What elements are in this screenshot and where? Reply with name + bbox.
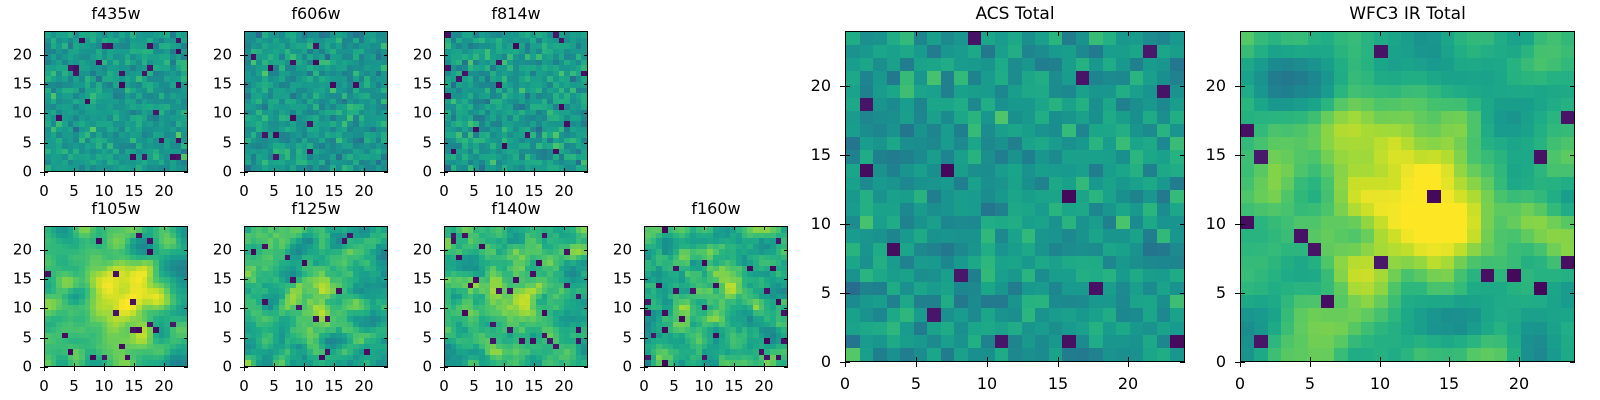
xtick-label-wfc3-ir-total-20: 20 [1509, 376, 1529, 392]
ytick-right-wfc3-ir-total-5 [1570, 293, 1575, 294]
xtick-inner-wfc3-ir-total-5 [1310, 357, 1311, 362]
ytick-inner-wfc3-ir-total-10 [1240, 224, 1245, 225]
xtick-wfc3-ir-total-15 [1449, 362, 1450, 367]
heatmap-wfc3-ir-total [1240, 31, 1575, 362]
xtick-top-wfc3-ir-total-20 [1519, 31, 1520, 36]
heatmap-cells-wfc3-ir-total [1241, 32, 1574, 361]
xtick-inner-wfc3-ir-total-15 [1449, 357, 1450, 362]
ytick-label-wfc3-ir-total-20: 20 [0, 78, 1226, 94]
ytick-right-wfc3-ir-total-0 [1570, 362, 1575, 363]
panel-wfc3-ir-total: WFC3 IR Total0510152005101520 [0, 0, 1600, 400]
xtick-inner-wfc3-ir-total-10 [1380, 357, 1381, 362]
xtick-label-wfc3-ir-total-10: 10 [1370, 376, 1390, 392]
ytick-right-wfc3-ir-total-20 [1570, 86, 1575, 87]
xtick-top-wfc3-ir-total-0 [1240, 31, 1241, 36]
xtick-top-wfc3-ir-total-5 [1310, 31, 1311, 36]
ytick-label-wfc3-ir-total-0: 0 [0, 354, 1226, 370]
xtick-wfc3-ir-total-10 [1380, 362, 1381, 367]
xtick-label-wfc3-ir-total-0: 0 [1235, 376, 1245, 392]
ytick-inner-wfc3-ir-total-20 [1240, 86, 1245, 87]
xtick-label-wfc3-ir-total-5: 5 [1305, 376, 1315, 392]
ytick-label-wfc3-ir-total-15: 15 [0, 147, 1226, 163]
xtick-top-wfc3-ir-total-10 [1380, 31, 1381, 36]
ytick-label-wfc3-ir-total-10: 10 [0, 216, 1226, 232]
panel-title-wfc3-ir-total: WFC3 IR Total [1240, 6, 1575, 23]
xtick-inner-wfc3-ir-total-20 [1519, 357, 1520, 362]
ytick-label-wfc3-ir-total-5: 5 [0, 285, 1226, 301]
ytick-right-wfc3-ir-total-10 [1570, 224, 1575, 225]
xtick-wfc3-ir-total-20 [1519, 362, 1520, 367]
ytick-inner-wfc3-ir-total-15 [1240, 155, 1245, 156]
xtick-label-wfc3-ir-total-15: 15 [1439, 376, 1459, 392]
figure-canvas: f435w0510152005101520f606w05101520051015… [0, 0, 1600, 400]
ytick-right-wfc3-ir-total-15 [1570, 155, 1575, 156]
xtick-top-wfc3-ir-total-15 [1449, 31, 1450, 36]
ytick-inner-wfc3-ir-total-0 [1240, 362, 1245, 363]
ytick-inner-wfc3-ir-total-5 [1240, 293, 1245, 294]
xtick-wfc3-ir-total-5 [1310, 362, 1311, 367]
